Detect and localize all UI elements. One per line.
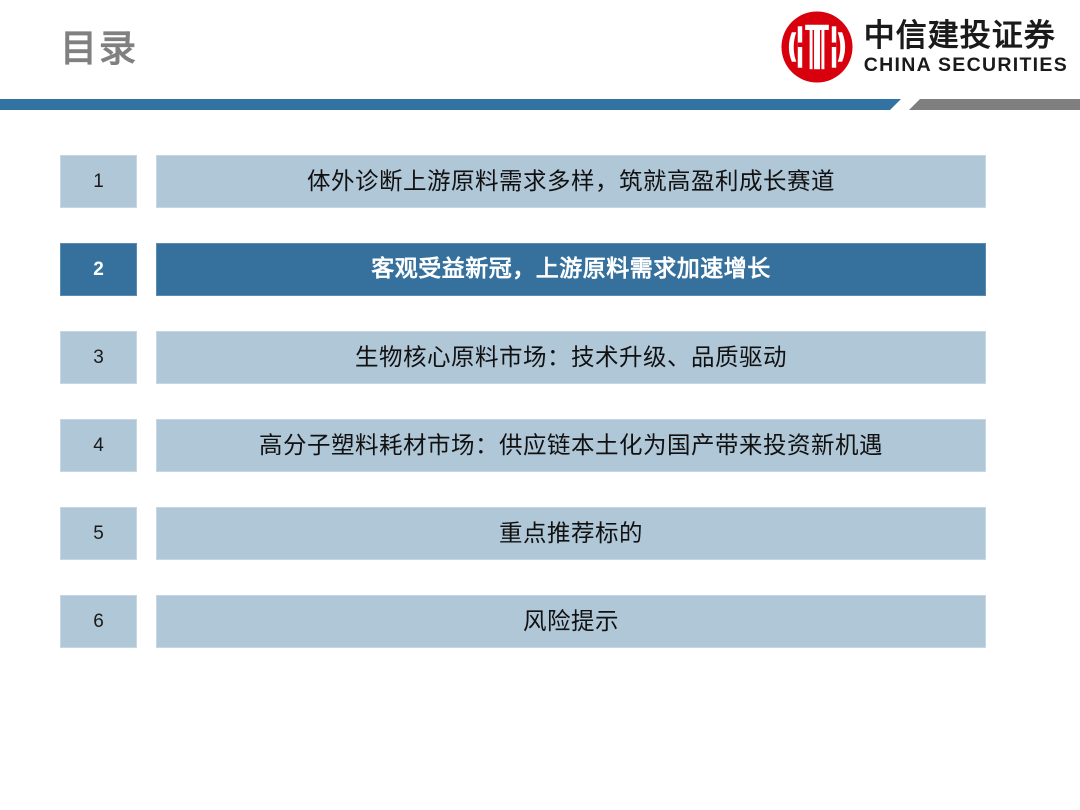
slide-header: 目录 中信建投证券 CHINA SECURITIES [0,0,1080,100]
divider-bar-gray [909,99,1080,110]
citic-emblem-icon [780,10,854,84]
logo-chinese-name: 中信建投证券 [864,18,1056,54]
toc-row[interactable]: 5 重点推荐标的 [0,507,1080,560]
toc-item-number: 5 [60,507,137,560]
toc-item-label: 体外诊断上游原料需求多样，筑就高盈利成长赛道 [156,155,986,208]
table-of-contents: 1 体外诊断上游原料需求多样，筑就高盈利成长赛道 2 客观受益新冠，上游原料需求… [0,155,1080,683]
divider-bar-blue [0,99,901,110]
toc-row[interactable]: 1 体外诊断上游原料需求多样，筑就高盈利成长赛道 [0,155,1080,208]
toc-item-label: 高分子塑料耗材市场：供应链本土化为国产带来投资新机遇 [156,419,986,472]
toc-item-number: 6 [60,595,137,648]
toc-item-label: 客观受益新冠，上游原料需求加速增长 [156,243,986,296]
toc-item-label: 重点推荐标的 [156,507,986,560]
toc-item-number: 4 [60,419,137,472]
toc-row[interactable]: 2 客观受益新冠，上游原料需求加速增长 [0,243,1080,296]
page-title: 目录 [60,26,138,72]
toc-item-number: 2 [60,243,137,296]
header-divider [0,99,1080,113]
toc-row[interactable]: 4 高分子塑料耗材市场：供应链本土化为国产带来投资新机遇 [0,419,1080,472]
toc-item-number: 3 [60,331,137,384]
toc-item-label: 风险提示 [156,595,986,648]
logo-english-name: CHINA SECURITIES [864,54,1068,77]
toc-row[interactable]: 6 风险提示 [0,595,1080,648]
toc-item-number: 1 [60,155,137,208]
toc-row[interactable]: 3 生物核心原料市场：技术升级、品质驱动 [0,331,1080,384]
brand-logo: 中信建投证券 CHINA SECURITIES [780,8,1068,86]
toc-item-label: 生物核心原料市场：技术升级、品质驱动 [156,331,986,384]
logo-text-block: 中信建投证券 CHINA SECURITIES [864,18,1068,77]
